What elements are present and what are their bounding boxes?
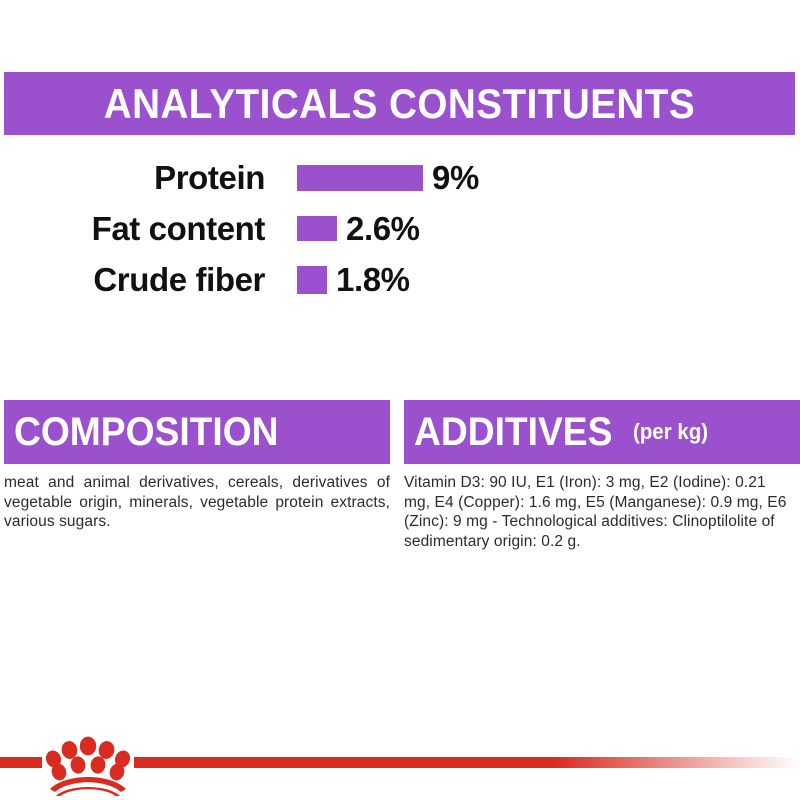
chart-bar-crude-fiber (297, 266, 327, 294)
chart-bar-label: Crude fiber (0, 263, 265, 296)
chart-bar-group: 2.6% (297, 212, 420, 245)
chart-bar-label: Fat content (0, 212, 265, 245)
footer-brand-strip (0, 710, 800, 800)
footer-rule-left (0, 757, 42, 768)
composition-body-text: meat and animal derivatives, cereals, de… (4, 473, 390, 532)
analytical-constituents-chart: Protein 9% Fat content 2.6% Crude fiber … (0, 152, 800, 305)
chart-row: Fat content 2.6% (0, 203, 800, 254)
additives-subheading: (per kg) (633, 421, 708, 443)
additives-section: ADDITIVES (per kg) Vitamin D3: 90 IU, E1… (390, 400, 800, 551)
chart-row: Protein 9% (0, 152, 800, 203)
chart-bar-value: 9% (432, 161, 479, 194)
royal-canin-crown-logo (44, 734, 132, 796)
chart-bar-group: 9% (297, 161, 479, 194)
chart-bar-label: Protein (0, 161, 265, 194)
chart-bar-value: 1.8% (336, 263, 410, 296)
page-title: ANALYTICALS CONSTITUENTS (104, 83, 695, 125)
chart-bar-fat-content (297, 216, 337, 241)
chart-bar-value: 2.6% (346, 212, 420, 245)
chart-bar-protein (297, 165, 423, 191)
composition-heading: COMPOSITION (14, 412, 279, 452)
info-sections: COMPOSITION meat and animal derivatives,… (0, 400, 800, 551)
composition-section: COMPOSITION meat and animal derivatives,… (0, 400, 390, 551)
additives-header: ADDITIVES (per kg) (404, 400, 800, 464)
additives-heading: ADDITIVES (414, 412, 612, 452)
composition-header: COMPOSITION (4, 400, 390, 464)
additives-body-text: Vitamin D3: 90 IU, E1 (Iron): 3 mg, E2 (… (404, 473, 796, 551)
analyticals-constituents-banner: ANALYTICALS CONSTITUENTS (4, 72, 795, 135)
chart-bar-group: 1.8% (297, 263, 410, 296)
footer-rule-right (134, 757, 800, 768)
chart-row: Crude fiber 1.8% (0, 254, 800, 305)
